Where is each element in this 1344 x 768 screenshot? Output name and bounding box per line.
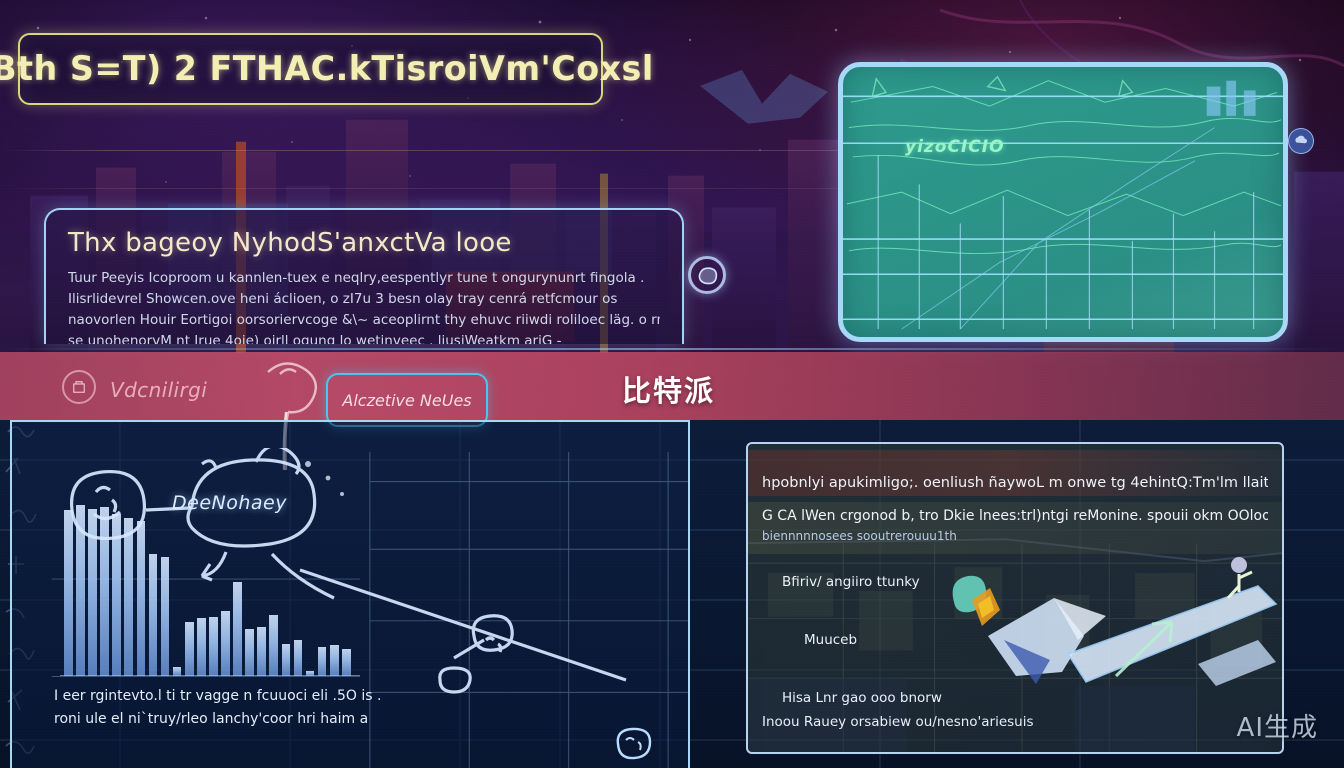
- description-line: Ilisrlidevrel Showcen.ove heni áclioen, …: [68, 289, 660, 310]
- pill-button-label: Alczetive NeUes: [342, 391, 471, 410]
- description-heading: Thx bageoy NyhodS'anxctVa looe: [68, 228, 660, 258]
- teal-panel-label: yizoCICIO: [905, 137, 1005, 157]
- banner-left-label: Vdcnilirgi: [110, 378, 207, 402]
- description-body: Tuur Peeyis Icoproom u kannlen-tuex e ne…: [68, 268, 660, 344]
- scanline-divider: [0, 348, 1344, 350]
- title-banner: FBth S=T) 2 FTHAC.kTisroiVm'Coxsl: [18, 33, 603, 105]
- stamp-icon: [62, 370, 96, 404]
- description-line: Tuur Peeyis Icoproom u kannlen-tuex e ne…: [68, 268, 660, 289]
- sketch-label: DeeNohaey: [172, 492, 287, 514]
- list-panel-sub-line-2[interactable]: biennnnnosees sooutrerouuu1th: [762, 529, 1268, 543]
- screenshot-root: FBth S=T) 2 FTHAC.kTisroiVm'Coxsl: [0, 0, 1344, 768]
- list-panel-header: hpobnlyi apukimligo;. oenliush ñaywoL m …: [748, 450, 1282, 496]
- brand-watermark: 比特派: [622, 368, 715, 410]
- list-panel-header-text: hpobnlyi apukimligo;. oenliush ñaywoL m …: [762, 475, 1268, 491]
- bar-chart-panel[interactable]: DeeNohaey I eer rgintevto.l ti tr vagge …: [10, 420, 690, 768]
- list-item[interactable]: Bfiriv/ angiiro ttunky: [782, 574, 1252, 590]
- list-item[interactable]: Muuceb: [804, 632, 1252, 648]
- description-line: naovorlen Houir Eortigoi oorsoriervcoge …: [68, 310, 660, 331]
- chart-caption-line: roni ule el ni`truy/rleo lanchy'coor hri…: [54, 708, 484, 730]
- page-title: FBth S=T) 2 FTHAC.kTisroiVm'Coxsl: [0, 49, 653, 89]
- chart-caption-line: I eer rgintevto.l ti tr vagge n fcuuoci …: [54, 685, 484, 707]
- teal-data-panel[interactable]: yizoCICIO: [838, 62, 1288, 342]
- ai-generated-watermark: AI生成: [1237, 707, 1318, 744]
- cloud-badge-icon[interactable]: [1288, 128, 1314, 154]
- description-line: se unohenorvM nt Irue 4oie) oirll ogung …: [68, 331, 660, 344]
- description-panel: Thx bageoy NyhodS'anxctVa looe Tuur Peey…: [44, 208, 684, 344]
- list-panel-subheader: G CA lWen crgonod b, tro Dkie lnees:trl)…: [748, 502, 1282, 554]
- small-face-icon[interactable]: [612, 724, 656, 764]
- circle-node-icon[interactable]: [688, 256, 726, 294]
- chart-caption: I eer rgintevto.l ti tr vagge n fcuuoci …: [54, 685, 484, 730]
- list-panel-sub-line-1: G CA lWen crgonod b, tro Dkie lnees:trl)…: [762, 508, 1268, 524]
- list-panel-footer: Inoou Rauey orsabiew ou/nesno'ariesuis: [762, 714, 1034, 730]
- list-item[interactable]: Hisa Lnr gao ooo bnorw: [782, 690, 1252, 706]
- list-panel[interactable]: hpobnlyi apukimligo;. oenliush ñaywoL m …: [746, 442, 1284, 754]
- teal-wireframe-chart: [843, 67, 1283, 341]
- alternative-values-button[interactable]: Alczetive NeUes: [326, 373, 488, 427]
